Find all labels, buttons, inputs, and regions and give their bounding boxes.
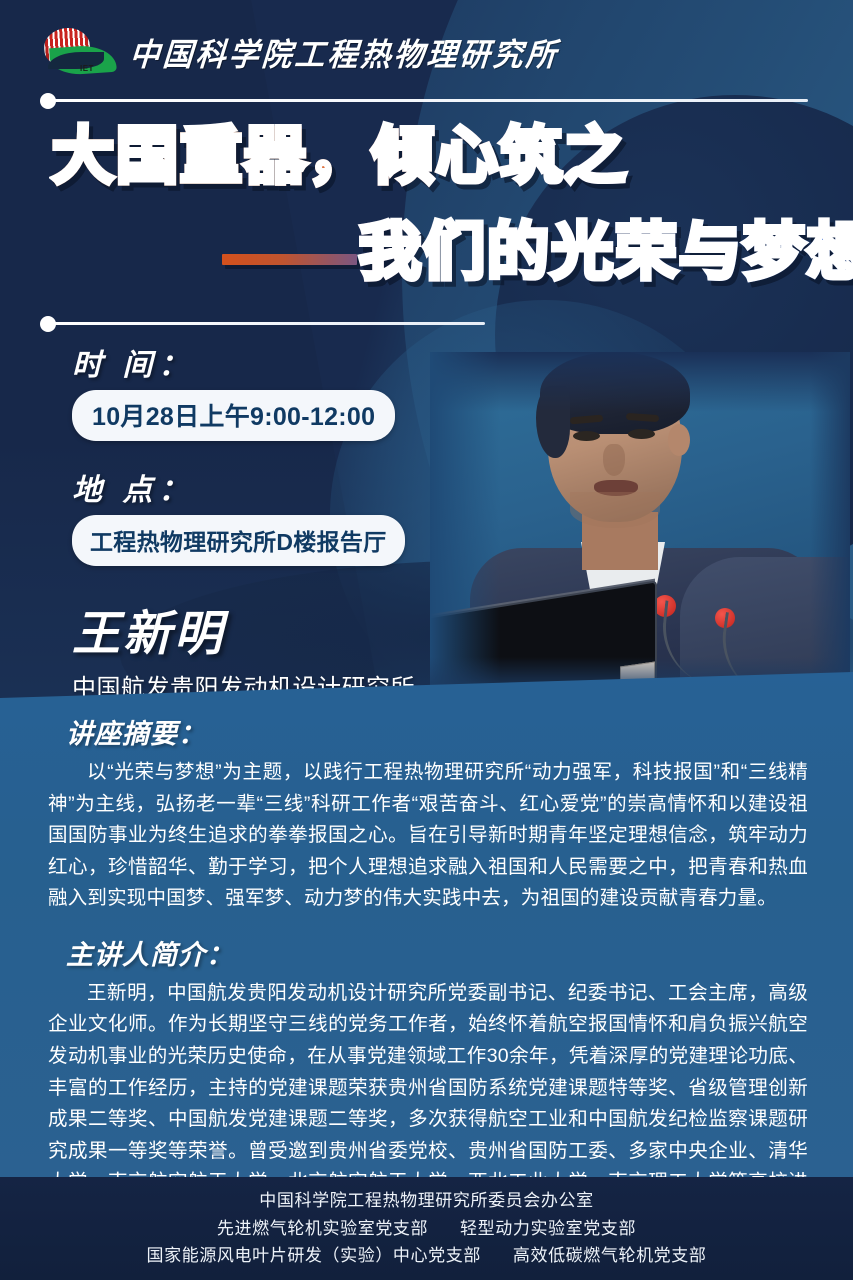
- time-label: 时 间：: [72, 340, 452, 384]
- event-meta: 时 间： 10月28日上午9:00-12:00 地 点： 工程热物理研究所D楼报…: [72, 340, 452, 703]
- time-value-pill: 10月28日上午9:00-12:00: [72, 390, 395, 441]
- divider-dot-icon: [40, 316, 56, 332]
- photo-nose: [603, 444, 625, 476]
- speaker-photo: [430, 352, 850, 697]
- footer-line-3: 国家能源风电叶片研发（实验）中心党支部 高效低碳燃气轮机党支部: [147, 1242, 707, 1270]
- poster-footer: 中国科学院工程热物理研究所委员会办公室 先进燃气轮机实验室党支部 轻型动力实验室…: [0, 1177, 853, 1280]
- content-panel-inner: 讲座摘要： 以“光荣与梦想”为主题，以践行工程热物理研究所“动力强军，科技报国”…: [48, 712, 808, 1241]
- spacer: [72, 441, 452, 465]
- divider-dot-icon: [40, 93, 56, 109]
- iet-logo-icon: IET: [40, 28, 124, 76]
- photo-ear: [668, 424, 690, 456]
- divider-top: [48, 99, 808, 102]
- poster-root: IET 中国科学院工程热物理研究所 大国重器，倾心筑之 我们的光荣与梦想: [0, 0, 853, 1280]
- bio-heading: 主讲人简介：: [66, 933, 808, 972]
- photo-fade-right: [810, 352, 850, 697]
- place-value-pill: 工程热物理研究所D楼报告厅: [72, 515, 405, 566]
- photo-eye-left: [573, 431, 600, 441]
- photo-eye-right: [628, 429, 655, 439]
- abstract-heading: 讲座摘要：: [66, 712, 808, 751]
- title-sub-row: 我们的光荣与梦想: [222, 222, 853, 284]
- photo-chin: [570, 492, 660, 528]
- organization-name: 中国科学院工程热物理研究所: [128, 29, 560, 75]
- title-main: 大国重器，倾心筑之: [52, 126, 628, 188]
- title-block: 大国重器，倾心筑之 我们的光荣与梦想: [0, 126, 853, 316]
- title-subtitle: 我们的光荣与梦想: [359, 222, 853, 284]
- title-dash-rule: [222, 254, 357, 265]
- place-label: 地 点：: [72, 465, 452, 509]
- poster-header: IET 中国科学院工程热物理研究所: [0, 0, 853, 96]
- divider-second: [48, 322, 485, 325]
- footer-line-1: 中国科学院工程热物理研究所委员会办公室: [259, 1187, 593, 1215]
- logo-iet-text: IET: [80, 64, 94, 73]
- abstract-body: 以“光荣与梦想”为主题，以践行工程热物理研究所“动力强军，科技报国”和“三线精神…: [48, 757, 808, 915]
- footer-line-2: 先进燃气轮机实验室党支部 轻型动力实验室党支部: [217, 1215, 636, 1243]
- speaker-name: 王新明: [72, 594, 452, 664]
